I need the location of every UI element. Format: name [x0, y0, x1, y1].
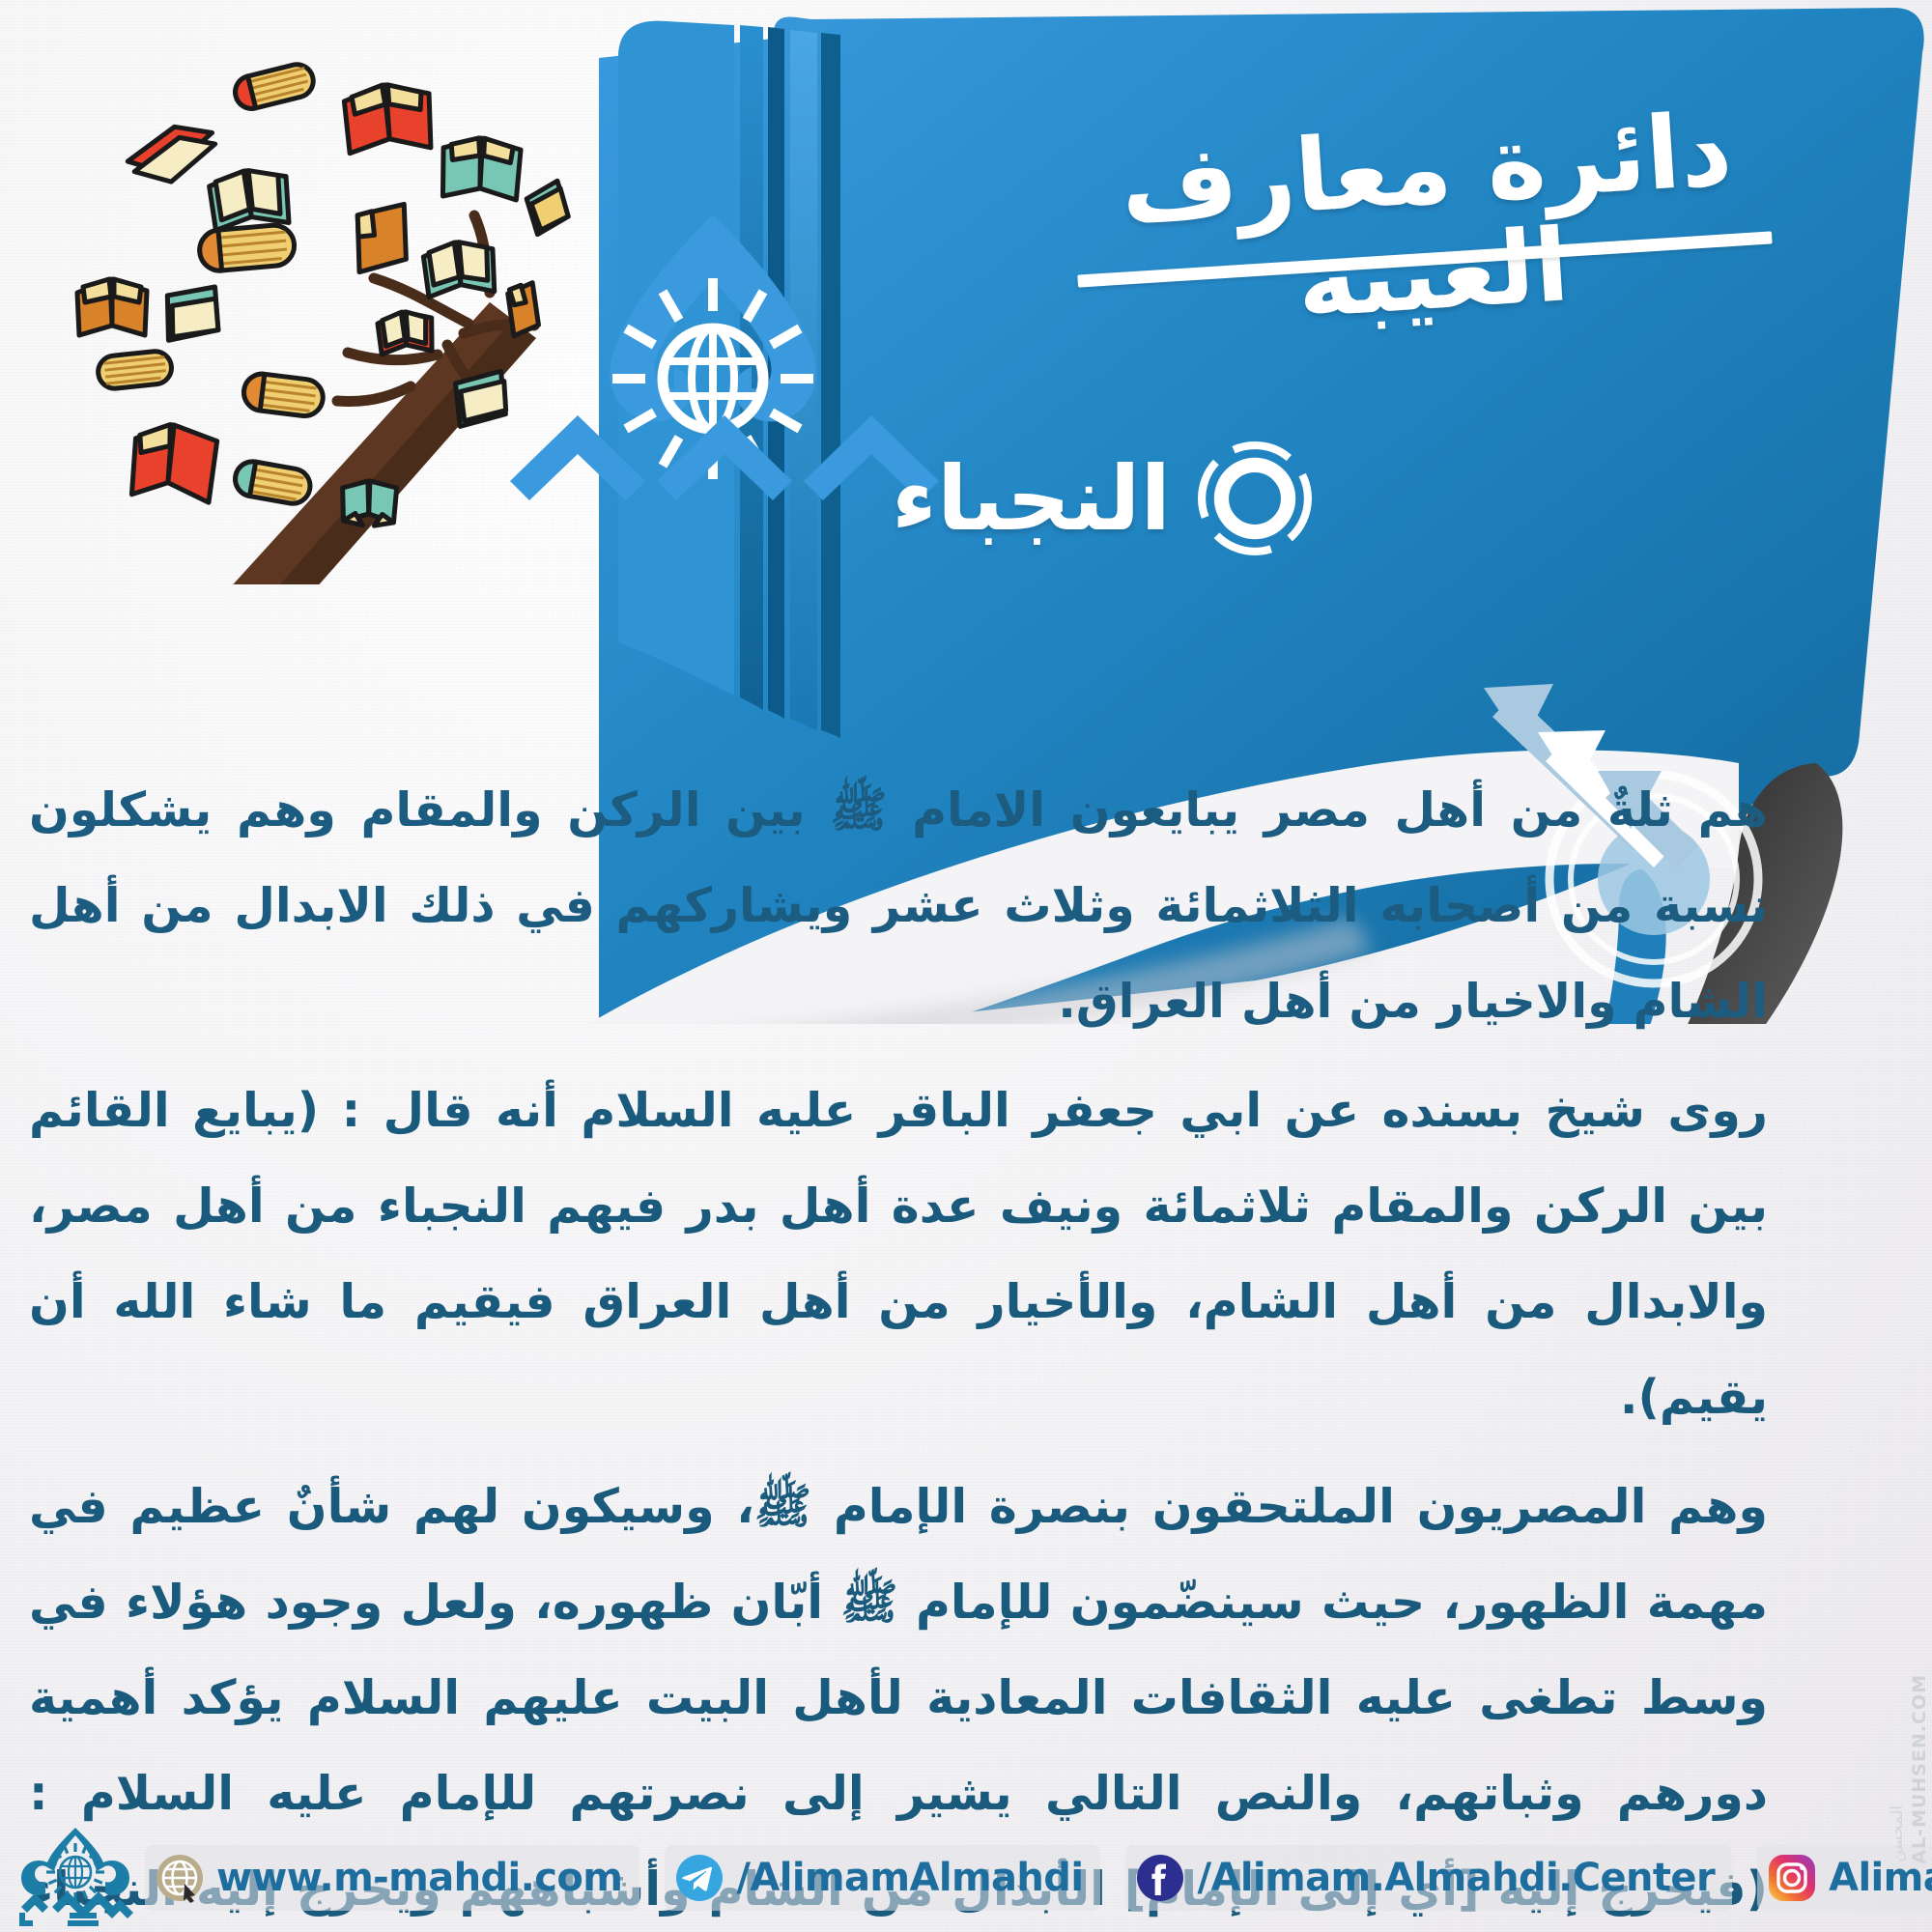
book-tree-pencil-illustration — [53, 43, 594, 584]
paragraph-1: هم ثلةٌ من أهل مصر يبايعون الامام ﷺ بين … — [29, 763, 1768, 1050]
target-circle-icon — [1196, 440, 1314, 557]
subtitle-text: النجباء — [892, 447, 1171, 551]
site-watermark: AL-MUHSEN.COM — [1909, 1674, 1930, 1864]
telegram-icon — [674, 1853, 724, 1903]
footer-link-label: /Alimam.Almahdi.Center — [1197, 1856, 1715, 1900]
page-title: دائرة معارف الغيبة — [989, 89, 1870, 354]
title-underline — [1077, 231, 1772, 287]
footer-link-telegram[interactable]: /AlimamAlmahdi — [665, 1845, 1100, 1911]
article-body: هم ثلةٌ من أهل مصر يبايعون الامام ﷺ بين … — [29, 763, 1768, 1932]
facebook-icon — [1135, 1853, 1185, 1903]
instagram-icon — [1767, 1853, 1817, 1903]
paragraph-2: روى شيخ بسنده عن ابي جعفر الباقر عليه ال… — [29, 1064, 1768, 1446]
center-emblem-logo-icon — [14, 1824, 137, 1932]
infographic-page: دائرة معارف الغيبة النجباء هم ثلةٌ من أه… — [0, 0, 1932, 1932]
footer-link-website[interactable]: www.m-mahdi.com — [145, 1845, 639, 1911]
footer-link-label: /AlimamAlmahdi — [736, 1856, 1083, 1900]
subtitle-row: النجباء — [892, 440, 1314, 557]
globe-website-icon — [155, 1853, 205, 1903]
site-watermark-arabic: المحسن — [1888, 1805, 1907, 1862]
footer-links: www.m-mahdi.com /AlimamAlmahdi /Alimam.A… — [145, 1845, 1932, 1911]
footer-link-facebook[interactable]: /Alimam.Almahdi.Center — [1125, 1845, 1732, 1911]
footer-link-label: www.m-mahdi.com — [216, 1856, 622, 1900]
footer-bar: www.m-mahdi.com /AlimamAlmahdi /Alimam.A… — [0, 1824, 1932, 1932]
